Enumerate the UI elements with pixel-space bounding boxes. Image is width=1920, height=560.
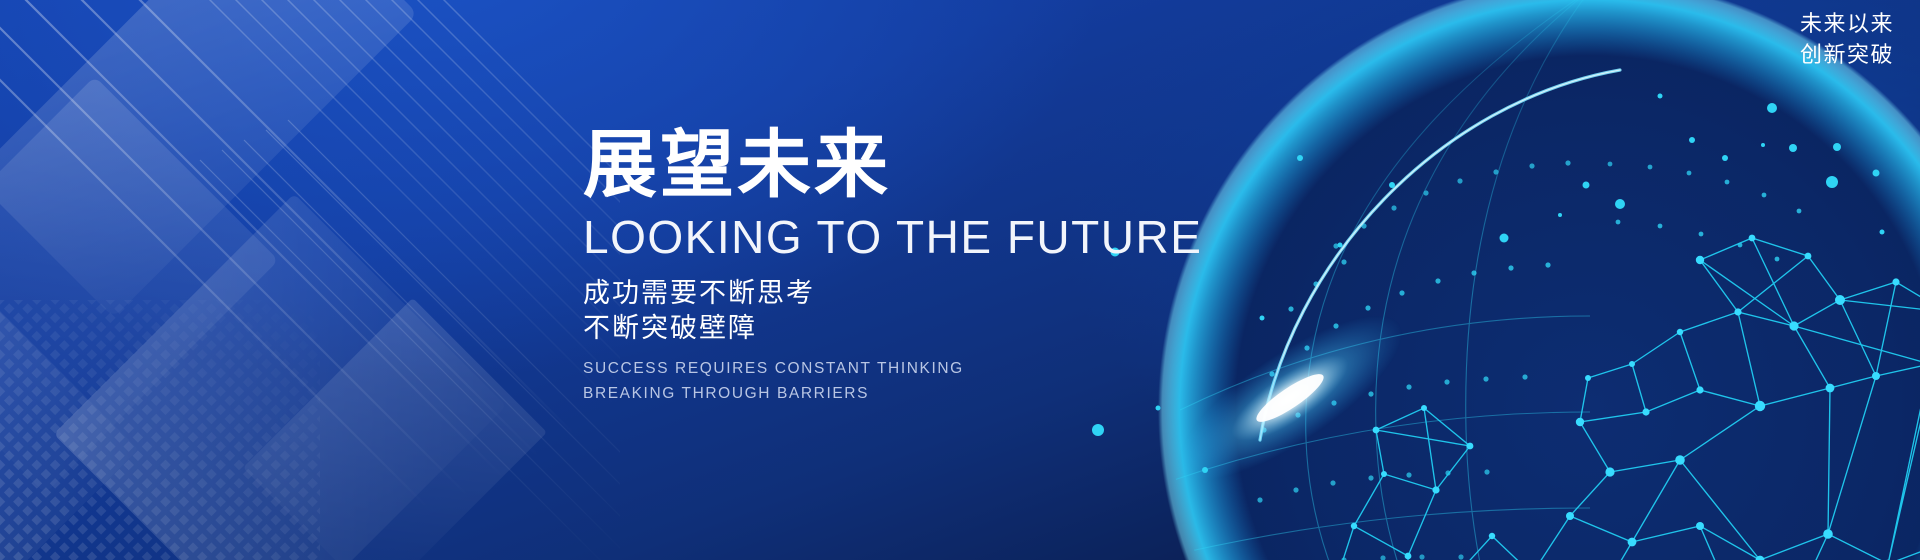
globe-meridians [1174, 0, 1590, 560]
subtitle-cn-line1: 成功需要不断思考 [583, 276, 1223, 311]
globe-latitude-dots [1257, 160, 1801, 560]
wireframe-network-globe [1140, 0, 1920, 560]
corner-slogan-line1: 未来以来 [1800, 8, 1894, 39]
page-title-en: LOOKING TO THE FUTURE [583, 214, 1223, 260]
corner-slogan: 未来以来 创新突破 [1800, 8, 1894, 70]
geometric-panels [0, 0, 547, 560]
subtitle-en-line1: SUCCESS REQUIRES CONSTANT THINKING [583, 356, 1223, 381]
globe-network-mesh [1330, 238, 1920, 560]
headline-block: 展望未来 LOOKING TO THE FUTURE 成功需要不断思考 不断突破… [583, 128, 1223, 406]
subtitle-en-line2: BREAKING THROUGH BARRIERS [583, 381, 1223, 406]
hero-banner: 展望未来 LOOKING TO THE FUTURE 成功需要不断思考 不断突破… [0, 0, 1920, 560]
subtitle-cn-line2: 不断突破壁障 [583, 311, 1223, 346]
left-geometric-pattern [0, 0, 620, 560]
subtitle-en: SUCCESS REQUIRES CONSTANT THINKING BREAK… [583, 356, 1223, 406]
corner-slogan-line2: 创新突破 [1800, 39, 1894, 70]
subtitle-cn: 成功需要不断思考 不断突破壁障 [583, 276, 1223, 345]
globe-rim-light [1260, 70, 1620, 440]
page-title-cn: 展望未来 [583, 128, 1223, 202]
globe-network-nodes [1327, 235, 1920, 560]
